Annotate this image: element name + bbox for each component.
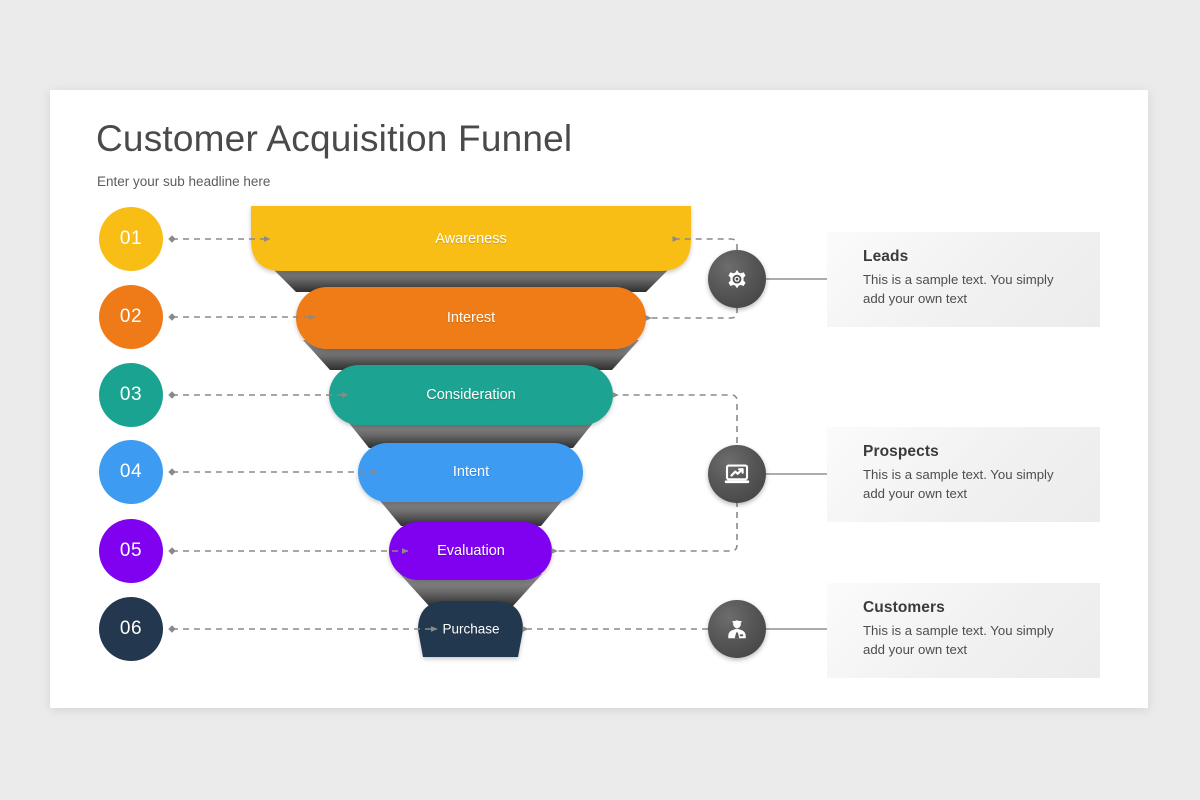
stage-badge-3[interactable]: 03 <box>99 363 163 427</box>
callout-icon-2[interactable] <box>708 445 766 503</box>
businessperson-icon <box>722 614 752 644</box>
callout-card-1[interactable]: Leads This is a sample text. You simply … <box>827 232 1100 327</box>
connector-right-5 <box>557 501 737 551</box>
callout-icon-3[interactable] <box>708 600 766 658</box>
callout-card-3-title: Customers <box>863 599 1100 617</box>
stage-badge-4[interactable]: 04 <box>99 440 163 504</box>
connector-right-3 <box>618 395 737 443</box>
funnel-stage-3-shape[interactable] <box>329 365 613 425</box>
stage-badge-1[interactable]: 01 <box>99 207 163 271</box>
stage-badge-2-label: 02 <box>120 306 142 328</box>
stage-badge-2[interactable]: 02 <box>99 285 163 349</box>
callout-card-1-body: This is a sample text. You simply add yo… <box>863 271 1063 308</box>
funnel-stage-6-shape[interactable] <box>418 601 523 657</box>
callout-card-2-title: Prospects <box>863 443 1100 461</box>
callout-icon-1[interactable] <box>708 250 766 308</box>
funnel-stage-4-shape[interactable] <box>358 443 583 502</box>
stage-badge-6-label: 06 <box>120 618 142 640</box>
funnel-diagram <box>0 0 1200 800</box>
stage-badge-5-label: 05 <box>120 540 142 562</box>
callout-card-2[interactable]: Prospects This is a sample text. You sim… <box>827 427 1100 522</box>
stage-badge-3-label: 03 <box>120 384 142 406</box>
stage-badge-6[interactable]: 06 <box>99 597 163 661</box>
slide-canvas: Customer Acquisition Funnel Enter your s… <box>0 0 1200 800</box>
gear-icon <box>722 264 752 294</box>
callout-card-1-title: Leads <box>863 248 1100 266</box>
stage-badge-5[interactable]: 05 <box>99 519 163 583</box>
connector-right-2 <box>651 307 737 318</box>
funnel-stage-5-shape[interactable] <box>389 522 552 580</box>
callout-card-2-body: This is a sample text. You simply add yo… <box>863 466 1063 503</box>
funnel-stage-2-shape[interactable] <box>296 287 646 349</box>
callout-card-3-body: This is a sample text. You simply add yo… <box>863 622 1063 659</box>
icon-card-leaders <box>766 279 827 629</box>
stage-badge-4-label: 04 <box>120 461 142 483</box>
funnel-stage-1-shape[interactable] <box>251 206 691 271</box>
callout-card-3[interactable]: Customers This is a sample text. You sim… <box>827 583 1100 678</box>
laptop-growth-icon <box>722 459 752 489</box>
stage-badge-1-label: 01 <box>120 228 142 250</box>
